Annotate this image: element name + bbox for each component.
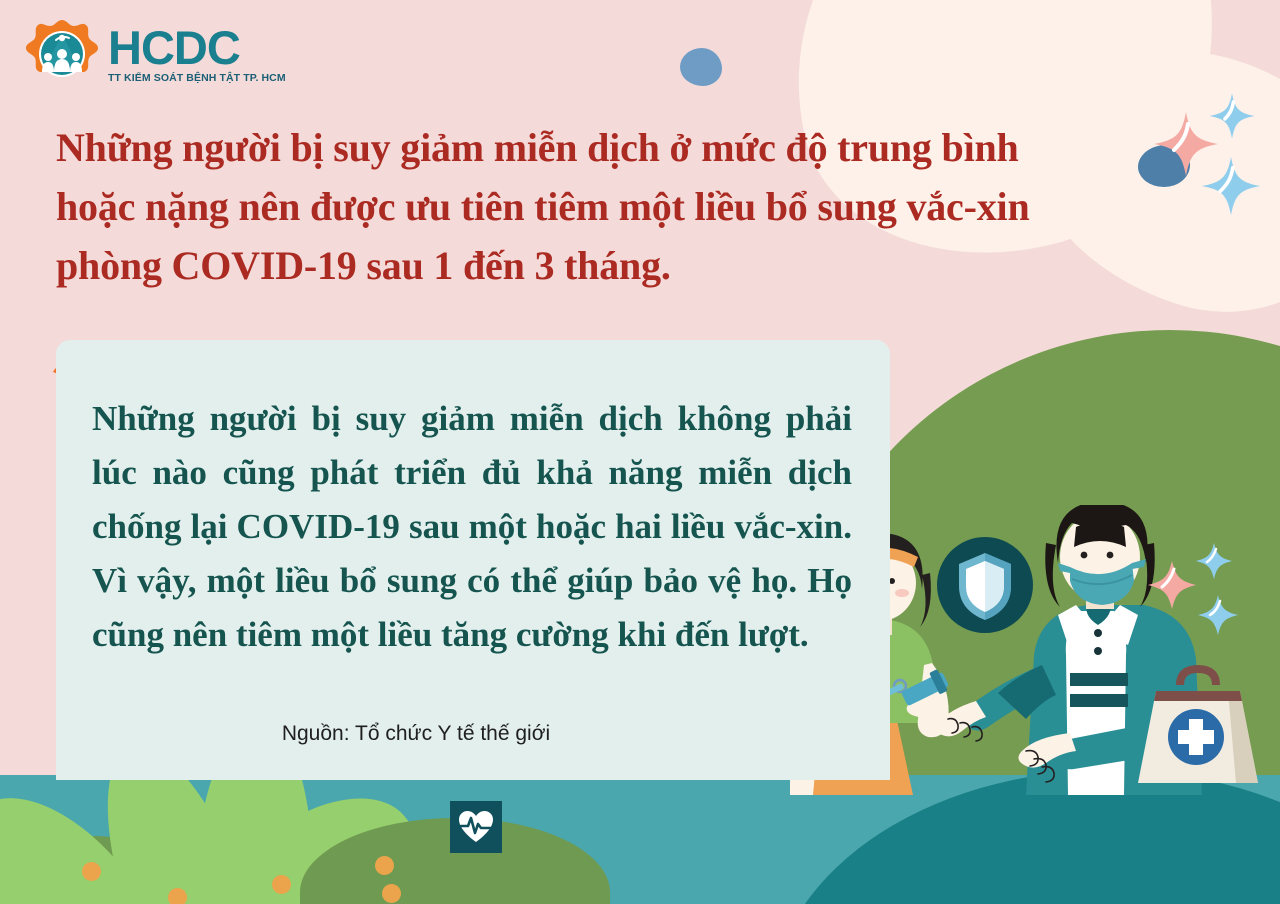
sparkle-blue-small <box>1208 92 1256 140</box>
sparkle-blue-illustration-b <box>1198 595 1238 635</box>
decorative-blue-dot <box>680 48 722 86</box>
hcdc-logo-mark <box>26 18 98 90</box>
hcdc-logo-subtitle: TT KIỂM SOÁT BỆNH TẬT TP. HCM <box>108 73 286 84</box>
quote-card-body: Những người bị suy giảm miễn dịch không … <box>92 392 852 661</box>
hcdc-logo-text: HCDC TT KIỂM SOÁT BỆNH TẬT TP. HCM <box>108 24 286 84</box>
quote-card: Những người bị suy giảm miễn dịch không … <box>56 340 890 780</box>
hcdc-logo-title: HCDC <box>108 24 286 71</box>
sparkle-pink-illustration <box>1148 561 1196 609</box>
page-headline: Những người bị suy giảm miễn dịch ở mức … <box>56 118 1066 296</box>
decorative-berry <box>382 884 401 903</box>
poster-root: HCDC TT KIỂM SOÁT BỆNH TẬT TP. HCM Những… <box>0 0 1280 904</box>
heartbeat-icon <box>450 801 502 853</box>
hcdc-logo: HCDC TT KIỂM SOÁT BỆNH TẬT TP. HCM <box>26 18 286 90</box>
sparkle-blue-large <box>1200 155 1262 217</box>
decorative-berry <box>168 888 187 904</box>
shield-badge-icon <box>937 537 1033 633</box>
decorative-berry <box>82 862 101 881</box>
decorative-berry <box>272 875 291 894</box>
quote-card-source: Nguồn: Tổ chức Y tế thế giới <box>56 722 776 746</box>
sparkle-blue-illustration-a <box>1196 543 1232 579</box>
decorative-berry <box>375 856 394 875</box>
